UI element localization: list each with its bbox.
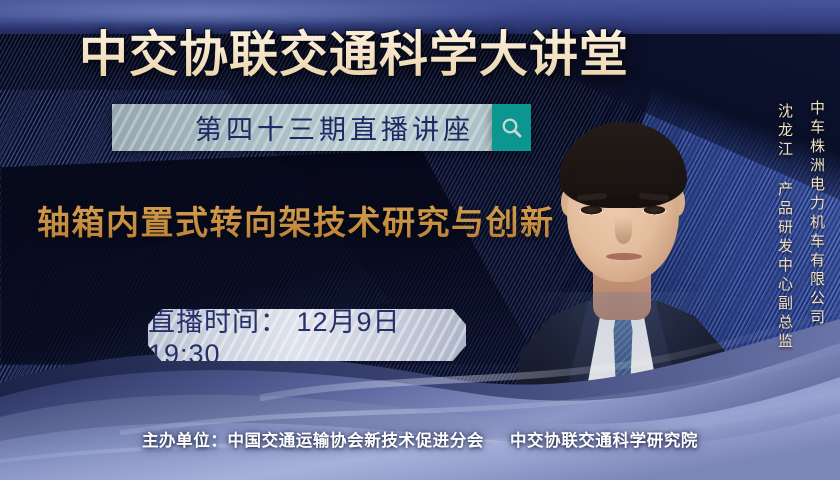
broadcast-time-text: 直播时间： 12月9日19:30 [148,309,466,361]
footer-org-2: 中交协联交通科学研究院 [510,432,698,450]
content-layer: 中交协联交通科学大讲堂 第四十三期直播讲座 轴箱内置式转向架技术研究与创新 直播… [0,0,840,480]
footer-org-1: 中国交通运输协会新技术促进分会 [227,432,484,450]
speaker-company: 中车株洲电力机车有限公司 [808,100,824,328]
footer-prefix: 主办单位： [142,432,228,450]
search-icon [500,116,524,140]
speaker-name-title: 沈龙江 产品研发中心副总监 [776,103,792,352]
page-title: 中交协联交通科学大讲堂 [0,15,840,86]
broadcast-time-pill: 直播时间： 12月9日19:30 [148,309,466,361]
episode-banner-label: 第四十三期直播讲座 [112,104,492,151]
lecture-topic-title: 轴箱内置式转向架技术研究与创新 [37,196,555,244]
footer-organizers: 主办单位：中国交通运输协会新技术促进分会中交协联交通科学研究院 [0,427,840,451]
search-button[interactable] [492,104,531,151]
poster-root: 中交协联交通科学大讲堂 第四十三期直播讲座 轴箱内置式转向架技术研究与创新 直播… [0,0,840,480]
episode-banner: 第四十三期直播讲座 [112,104,492,151]
